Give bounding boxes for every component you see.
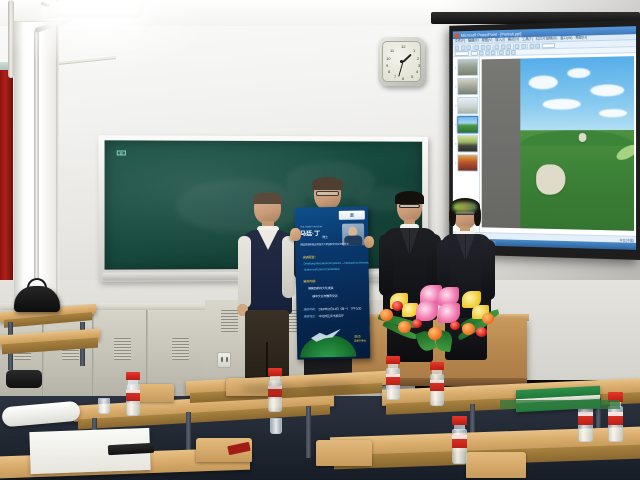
- slide-cloud: [567, 67, 590, 78]
- clock-numeral: 5: [411, 75, 413, 79]
- menu-item-insert[interactable]: 插入(I): [495, 38, 505, 43]
- bottle-cap: [430, 362, 444, 370]
- clock-numeral: 7: [394, 75, 396, 79]
- poster-content-line2: 德中文化与教育交流: [312, 295, 337, 299]
- thumbnail-number: 4: [454, 123, 457, 127]
- clock-minute-hand: [397, 61, 402, 76]
- poster-topic-en1: Developing Intercultural Competence — In…: [304, 261, 369, 266]
- slide-thumbnail-3[interactable]: [457, 97, 478, 114]
- slide-cloud: [529, 75, 558, 89]
- person2-glasses: [316, 191, 339, 196]
- new-icon[interactable]: [455, 45, 459, 50]
- water-bottle[interactable]: [126, 372, 140, 416]
- clock-numeral: 4: [416, 70, 418, 74]
- person2-hand-holding-poster: [364, 236, 374, 248]
- person-left-bald-man: [236, 192, 298, 392]
- bottle-neck: [128, 380, 138, 385]
- toolbar-separator: [497, 50, 498, 55]
- toolbar-separator: [527, 43, 528, 48]
- paste-icon[interactable]: [506, 44, 511, 49]
- bottle-neck: [270, 376, 280, 381]
- menu-item-window[interactable]: 窗口(W): [560, 36, 572, 41]
- shadow: [300, 382, 360, 392]
- orange-carnation: [398, 321, 411, 333]
- red-rose: [476, 327, 487, 337]
- clock-numeral: 11: [390, 49, 394, 53]
- wall-pipe-2: [34, 30, 39, 280]
- drinking-glass[interactable]: [270, 418, 282, 434]
- current-slide[interactable]: [482, 56, 634, 231]
- person1-left-sleeve: [238, 236, 251, 308]
- poster-topic-label: 演讲题目：: [303, 255, 318, 259]
- slide-thumbnail-1[interactable]: [457, 59, 478, 77]
- clock-numeral: 2: [417, 57, 419, 61]
- red-rose: [450, 321, 460, 330]
- slide-thumbnail-4-selected[interactable]: [457, 116, 478, 133]
- thumbnail-number: 6: [454, 161, 457, 165]
- slide-editing-area[interactable]: [480, 53, 636, 236]
- red-rose: [392, 301, 403, 311]
- thumbnail-row[interactable]: 1: [454, 59, 478, 77]
- poster-time-value: 2009年12月14日（周一） 下午3:30: [318, 308, 361, 312]
- poster-content-line1: 德国目前的文化发展: [308, 287, 333, 291]
- align-center-icon[interactable]: [505, 50, 510, 55]
- zoom-select[interactable]: [541, 43, 554, 48]
- clock-numeral: 6: [402, 77, 404, 81]
- menu-item-help[interactable]: 帮助(H): [575, 35, 587, 40]
- person4-flash-glare: [453, 202, 477, 212]
- bold-icon[interactable]: [479, 51, 484, 56]
- wall-outlet[interactable]: [217, 352, 231, 368]
- chalkboard-sticker: 校: [117, 150, 126, 155]
- red-rose: [412, 319, 422, 328]
- insert-chart-icon[interactable]: [535, 43, 540, 48]
- menu-item-file[interactable]: 文件(F): [455, 39, 466, 44]
- bottle-cap: [126, 372, 140, 380]
- orange-carnation: [428, 327, 442, 340]
- toolbar-separator: [472, 45, 473, 50]
- person3-hair: [395, 191, 424, 204]
- wall-pipe-1: [8, 0, 14, 78]
- poster-grass-graphic: [300, 335, 356, 358]
- align-left-icon[interactable]: [499, 50, 504, 55]
- bottle-cap: [452, 416, 467, 425]
- slide-thumbnail-6[interactable]: [457, 154, 478, 171]
- bottle-cap: [268, 368, 282, 376]
- slide-cloud: [542, 99, 580, 110]
- undo-icon[interactable]: [515, 44, 520, 49]
- thumbnail-number: 2: [454, 85, 457, 89]
- slide-photo-landscape: [520, 56, 634, 231]
- person2-hair: [312, 177, 343, 190]
- person1-hair: [253, 192, 282, 204]
- locker-vent: [172, 338, 189, 360]
- red-curtain: [0, 70, 13, 280]
- clock-face: 12 1 2 3 4 5 6 7 8 9 10 11: [382, 41, 421, 82]
- bottle-neck: [454, 425, 464, 431]
- poster-place-value: 中北校区学术报告厅: [319, 315, 344, 319]
- copy-icon[interactable]: [500, 44, 505, 49]
- clock-center-pin: [400, 60, 403, 63]
- fluorescent-tube: [55, 5, 139, 13]
- person1-hand-holding-poster: [290, 228, 301, 241]
- thumbnail-number: 5: [454, 142, 457, 146]
- locker-divider: [92, 310, 94, 400]
- thumbnail-row[interactable]: 5: [454, 135, 478, 152]
- align-right-icon[interactable]: [511, 50, 516, 55]
- open-icon[interactable]: [460, 45, 465, 50]
- poster-time-label: 演讲时间：: [303, 308, 317, 312]
- bottle-neck: [388, 364, 398, 369]
- event-poster: 走 Prof. Martin Poeschner 马廷·丁 博士 德国费恩斯堡应…: [295, 206, 371, 359]
- shadow: [240, 384, 300, 394]
- clock-hour-hand: [402, 53, 411, 62]
- locker-vent: [114, 338, 131, 360]
- slide-thumbnail-5[interactable]: [457, 135, 478, 152]
- thumbnail-row[interactable]: 6: [454, 154, 478, 171]
- outlet-slot: [221, 357, 223, 362]
- cut-icon[interactable]: [495, 44, 500, 49]
- clock-numeral: 3: [418, 64, 420, 68]
- font-select[interactable]: [455, 51, 469, 56]
- redo-icon[interactable]: [521, 43, 526, 48]
- flower-bouquet: [376, 283, 500, 349]
- poster-speaker-name-suffix: 博士: [322, 236, 328, 240]
- person3-glasses: [399, 204, 420, 208]
- chair-back: [316, 440, 372, 466]
- classroom-photo-scene: 12 1 2 3 4 5 6 7 8 9 10 11 Microsoft Pow…: [0, 0, 640, 480]
- poster-content-label: 演讲内容：: [303, 279, 318, 283]
- bottle-label-highlight: [608, 412, 623, 416]
- poster-speaker-name: 马廷·丁: [300, 231, 320, 239]
- thumbnail-number: 1: [454, 66, 457, 70]
- chair-back: [466, 452, 526, 478]
- clock-numeral: 1: [413, 49, 415, 53]
- slide-hill-ridge: [520, 130, 634, 146]
- menu-item-tools[interactable]: 工具(T): [522, 37, 533, 42]
- black-shoulder-bag: [14, 286, 60, 312]
- menu-item-view[interactable]: 视图(V): [482, 38, 493, 43]
- green-book-row: [500, 400, 620, 409]
- clock-numeral: 10: [386, 57, 390, 61]
- print-icon[interactable]: [474, 45, 479, 50]
- italic-icon[interactable]: [485, 51, 490, 56]
- clock-numeral: 12: [401, 45, 405, 49]
- black-case: [6, 370, 42, 388]
- slide-thumbnail-2[interactable]: [457, 78, 478, 96]
- bottle-label-highlight: [452, 435, 467, 438]
- slide-rock-small: [579, 133, 587, 142]
- font-size-select[interactable]: [470, 51, 477, 56]
- poster-topic-en2: Studium und Leben in Deutschland: [304, 268, 339, 272]
- bottle-label-highlight: [126, 390, 140, 393]
- bottle-neck: [432, 370, 442, 375]
- outlet-slot: [226, 357, 228, 362]
- underline-icon[interactable]: [491, 50, 496, 55]
- slide-rock-outcrop: [536, 164, 565, 195]
- thumbnail-row[interactable]: 2: [454, 78, 478, 96]
- water-bottle[interactable]: [430, 362, 444, 406]
- powerpoint-icon: [455, 33, 459, 38]
- menu-item-edit[interactable]: 编辑(E): [468, 38, 479, 43]
- clock-numeral: 8: [388, 70, 390, 74]
- orange-carnation: [482, 313, 494, 324]
- thumbnail-row[interactable]: 3: [454, 97, 478, 114]
- water-bottle[interactable]: [386, 356, 400, 400]
- water-bottle[interactable]: [452, 416, 467, 464]
- thumbnail-number: 3: [454, 104, 457, 108]
- menu-item-format[interactable]: 格式(O): [508, 37, 519, 42]
- bottle-label-highlight: [386, 374, 400, 377]
- poster-organizer-seal: 活动 容委外事处: [354, 333, 366, 342]
- toolbar-separator: [492, 44, 493, 49]
- insert-table-icon[interactable]: [529, 43, 534, 48]
- wall-clock: 12 1 2 3 4 5 6 7 8 9 10 11: [378, 37, 425, 86]
- poster-place-label: 演讲地点：: [304, 315, 318, 319]
- bottle-label-highlight: [578, 412, 593, 416]
- orange-carnation: [380, 309, 393, 321]
- thumbnail-row[interactable]: 4: [454, 116, 478, 133]
- menu-item-slideshow[interactable]: 幻灯片放映(D): [536, 36, 558, 41]
- desk-row-2-leg: [306, 406, 311, 458]
- bottle-label-highlight: [430, 380, 444, 383]
- poster-speaker-en: Prof. Martin Poeschner: [300, 225, 322, 229]
- orange-carnation: [462, 323, 475, 335]
- pink-lily: [416, 301, 438, 321]
- bottle-cap: [386, 356, 400, 364]
- pink-lily: [438, 303, 460, 323]
- drinking-glass[interactable]: [98, 398, 110, 414]
- preview-icon[interactable]: [480, 44, 485, 49]
- spellcheck-icon[interactable]: [486, 44, 491, 49]
- clock-numeral: 9: [386, 64, 388, 68]
- poster-logo: 走: [339, 210, 365, 219]
- toolbar-separator: [512, 44, 513, 49]
- save-icon[interactable]: [466, 45, 471, 50]
- pillar-edge: [56, 0, 59, 330]
- poster-seal-line2: 容委外事处: [354, 338, 366, 342]
- poster-speaker-subtitle: 德国费恩斯堡应用技术大学国际文化交流处处长: [300, 243, 348, 247]
